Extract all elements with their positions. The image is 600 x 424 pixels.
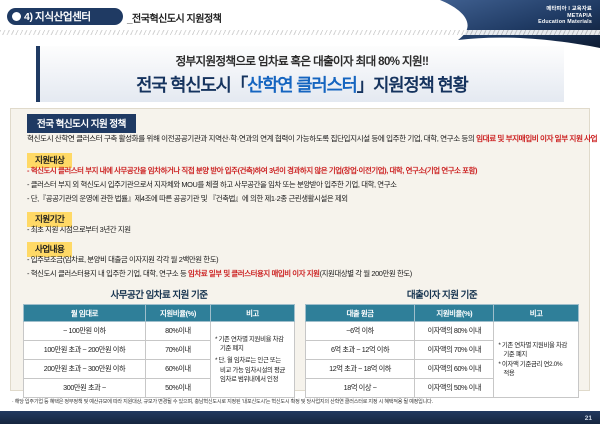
table-cell: 6억 초과 ~ 12억 이하: [306, 341, 415, 360]
brand-line-2: METAPIA: [538, 13, 592, 20]
list-item-text: - 혁신도시 클러스터용지 내 입주한 기업, 대학, 연구소 등: [27, 269, 188, 278]
footnote: · 해당 입주기업 등 혜택은 정부정책 및 예산규모에 따라 지원대상, 규모…: [12, 398, 588, 405]
column-header: 지원비율(%): [145, 305, 210, 322]
title-main-pre: 전국 혁신도시「: [136, 75, 247, 95]
footer-bar: [0, 411, 600, 424]
list-item: - 클러스터 부지 외 혁신도시 입주기관으로서 지자체와 MOU를 체결 하고…: [27, 179, 397, 190]
bullet-circle-icon: [12, 12, 21, 21]
slide-header: 4) 지식산업센터 _전국혁신도시 지원정책 메타피아 I 교육자료 METAP…: [0, 0, 600, 34]
table-cell: 100만원 초과 ~ 200만원 이하: [24, 341, 146, 360]
column-header: 비고: [494, 305, 579, 322]
list-item: - 혁신도시 클러스터 부지 내에 사무공간을 임차하거나 직접 분양 받아 입…: [27, 165, 477, 176]
table-header-row: 월 임대로 지원비율(%) 비고: [24, 305, 295, 322]
table-cell: ~6억 이하: [306, 322, 415, 341]
table-row: ~ 100만원 이하 80%이내 * 기존 연차별 지원비율 차감 기준 폐지 …: [24, 322, 295, 341]
brand-line-1: 메타피아 I 교육자료: [538, 6, 592, 13]
table-cell: 50%이내: [145, 379, 210, 398]
brand-block: 메타피아 I 교육자료 METAPIA Education Materials: [538, 6, 592, 26]
table-cell: 70%이내: [145, 341, 210, 360]
title-banner: 정부지원정책으로 임차료 혹은 대출이자 최대 80% 지원!! 전국 혁신도시…: [36, 46, 564, 102]
title-main-post: 」지원정책 현황: [357, 75, 468, 95]
lead-text: 혁신도시 산학연 클러스터 구축 활성화를 위해 이전공공기관과 지역산·학·연…: [27, 134, 476, 143]
table-note-cell: * 기존 연차별 지원비율 차감 기준 폐지 * 이자액 기준금리 연2.0% …: [494, 322, 579, 398]
table-title: 사무공간 임차료 지원 기준: [23, 287, 295, 301]
table-cell: 12억 초과 ~ 18억 이하: [306, 360, 415, 379]
table-cell: 200만원 초과 ~ 300만원 이하: [24, 360, 146, 379]
table-cell: 60%이내: [145, 360, 210, 379]
section-lead: 혁신도시 산학연 클러스터 구축 활성화를 위해 이전공공기관과 지역산·학·연…: [27, 133, 597, 144]
table-cell: 이자액의 60% 이내: [415, 360, 494, 379]
table-cell: ~ 100만원 이하: [24, 322, 146, 341]
note-line: * 기존 연차별 지원비율 차감: [215, 335, 290, 344]
list-item-tail: (지원대상별 각 월 200만원 한도): [320, 269, 412, 278]
table-cell: 80%이내: [145, 322, 210, 341]
column-header: 월 임대로: [24, 305, 146, 322]
page-number: 21: [585, 415, 592, 422]
brand-line-3: Education Materials: [538, 19, 592, 26]
note-line: * 단, 월 임차료는 인근 또는: [215, 356, 290, 365]
list-item: - 혁신도시 클러스터용지 내 입주한 기업, 대학, 연구소 등 임차료 일부…: [27, 268, 412, 279]
note-line: 임차료 범위내에서 인정: [215, 375, 290, 384]
table-row: ~6억 이하 이자액의 80% 이내 * 기존 연차별 지원비율 차감 기준 폐…: [306, 322, 579, 341]
section-badge: 4) 지식산업센터: [7, 8, 123, 25]
list-item: - 입주보조금(임차료, 분양비 대출금 이자지원 각각 월 2백만원 한도): [27, 254, 218, 265]
note-line: 기준 폐지: [498, 350, 574, 359]
table-header-row: 대출 원금 지원비율(%) 비고: [306, 305, 579, 322]
table-loan-interest-support: 대출이자 지원 기준 대출 원금 지원비율(%) 비고 ~6억 이하 이자액의 …: [305, 287, 579, 398]
table-title: 대출이자 지원 기준: [305, 287, 579, 301]
header-hatch-divider: [0, 30, 600, 35]
header-subtitle: _전국혁신도시 지원정책: [127, 10, 221, 25]
note-line: 기준 폐지: [215, 344, 290, 353]
table-rent-grid: 월 임대로 지원비율(%) 비고 ~ 100만원 이하 80%이내 * 기존 연…: [23, 304, 295, 398]
list-item: - 최초 지원 시점으로부터 3년간 지원: [27, 224, 131, 235]
table-cell: 이자액의 70% 이내: [415, 341, 494, 360]
table-cell: 이자액의 80% 이내: [415, 322, 494, 341]
title-subline: 정부지원정책으로 임차료 혹은 대출이자 최대 80% 지원!!: [40, 53, 564, 69]
slide-root: 4) 지식산업센터 _전국혁신도시 지원정책 메타피아 I 교육자료 METAP…: [0, 0, 600, 424]
table-cell: 300만원 초과 ~: [24, 379, 146, 398]
table-cell: 이자액의 50% 이내: [415, 379, 494, 398]
list-item: - 단,『공공기관의 운영에 관한 법률』제4조에 따른 공공기관 및 『건축법…: [27, 193, 348, 204]
table-rent-support: 사무공간 임차료 지원 기준 월 임대로 지원비율(%) 비고 ~ 100만원 …: [23, 287, 295, 398]
section-badge-label: 4) 지식산업센터: [24, 9, 91, 24]
lead-highlight: 임대료 및 부지매입비 이자 일부 지원 사업: [476, 134, 597, 143]
list-item-highlight: 임차료 일부 및 클러스터용지 매입비 이자 지원: [188, 269, 320, 278]
table-loan-grid: 대출 원금 지원비율(%) 비고 ~6억 이하 이자액의 80% 이내 * 기존…: [305, 304, 579, 398]
note-line: * 이자액 기준금리 연2.0%: [498, 360, 574, 369]
page-title: 전국 혁신도시「산학연 클러스터」지원정책 현황: [40, 72, 564, 97]
column-header: 지원비율(%): [415, 305, 494, 322]
section-title-label: 전국 혁신도시 지원 정책: [27, 114, 136, 133]
title-main-highlight: 산학연 클러스터: [247, 75, 357, 95]
note-line: 적용: [498, 369, 574, 378]
column-header: 대출 원금: [306, 305, 415, 322]
table-note-cell: * 기존 연차별 지원비율 차감 기준 폐지 * 단, 월 임차료는 인근 또는…: [210, 322, 294, 398]
content-panel: 전국 혁신도시 지원 정책 혁신도시 산학연 클러스터 구축 활성화를 위해 이…: [10, 108, 590, 391]
section-title-wrap: 전국 혁신도시 지원 정책: [27, 114, 136, 133]
column-header: 비고: [210, 305, 294, 322]
table-cell: 18억 이상 ~: [306, 379, 415, 398]
note-line: * 기존 연차별 지원비율 차감: [498, 341, 574, 350]
note-line: 비교 가능 임차시설의 평균: [215, 366, 290, 375]
